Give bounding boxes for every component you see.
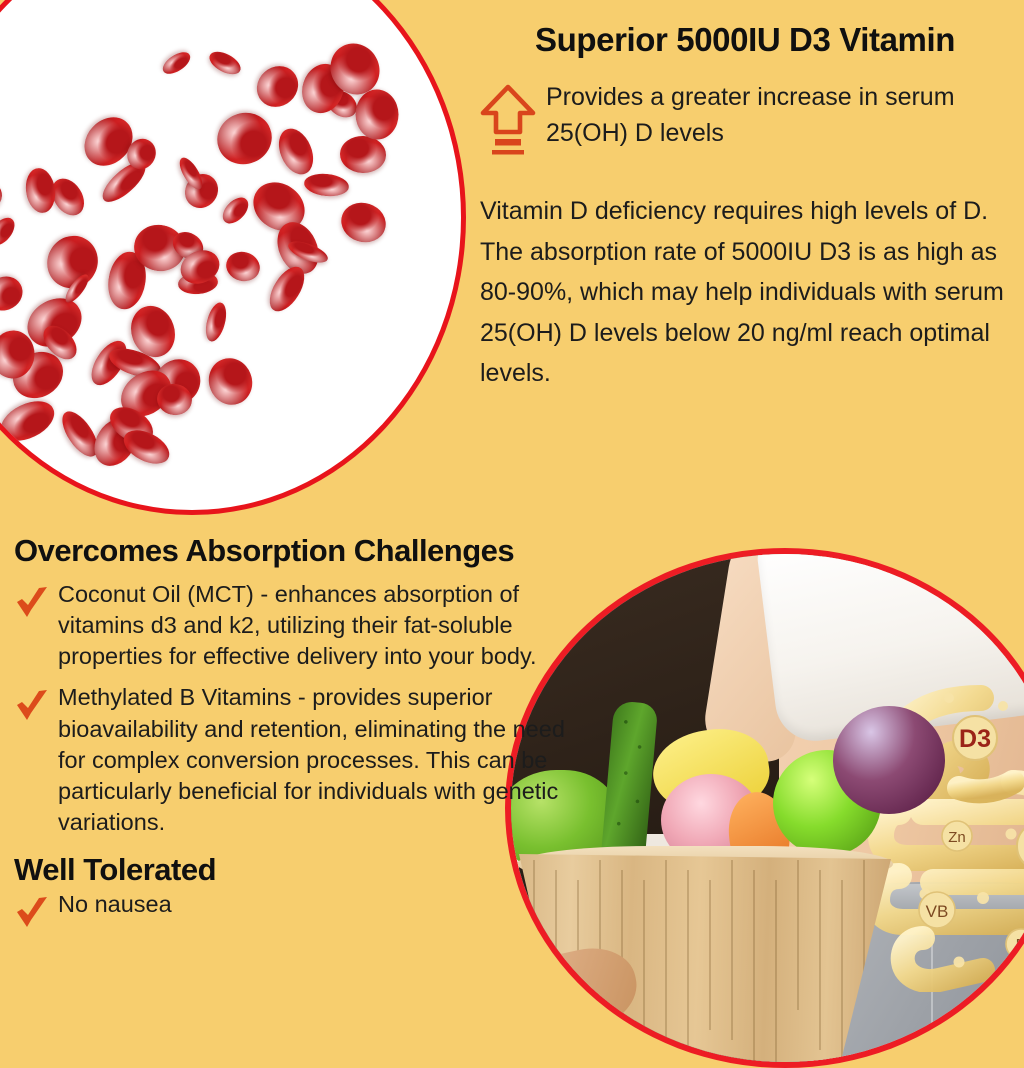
- list-item: Coconut Oil (MCT) - enhances absorption …: [14, 579, 574, 673]
- top-text-column: Superior 5000IU D3 Vitamin Provides a gr…: [480, 22, 1010, 394]
- wood-grain: [819, 870, 821, 1050]
- check-icon: [14, 682, 58, 729]
- page-title: Superior 5000IU D3 Vitamin: [480, 22, 1010, 58]
- feature-text: Provides a greater increase in serum 25(…: [546, 80, 1010, 151]
- wood-grain: [731, 860, 733, 1040]
- digestion-photo: D3 Zn K2 VB E: [505, 548, 1024, 1068]
- blood-cell: [336, 197, 391, 248]
- feature-row: Provides a greater increase in serum 25(…: [480, 80, 1010, 163]
- blood-cell: [202, 352, 258, 411]
- body-paragraph: Vitamin D deficiency requires high level…: [480, 191, 1010, 394]
- wood-grain: [797, 860, 799, 1010]
- list-item: Methylated B Vitamins - provides superio…: [14, 682, 574, 838]
- blood-cell: [339, 135, 387, 174]
- list-item-label: Methylated B Vitamins - provides superio…: [58, 682, 574, 838]
- blood-cell: [23, 166, 58, 215]
- blood-cell: [218, 193, 253, 228]
- blood-cell: [0, 177, 3, 212]
- wood-grain: [687, 870, 689, 1068]
- blood-cell: [210, 105, 280, 172]
- up-arrow-icon: [480, 80, 540, 163]
- tract-label-zn: Zn: [948, 829, 966, 846]
- blood-cells-image: [0, 0, 466, 515]
- purple-cabbage: [833, 706, 945, 814]
- blood-cell: [303, 172, 350, 199]
- wood-grain: [643, 880, 645, 1060]
- list-item: No nausea: [14, 889, 574, 936]
- blood-cell: [0, 393, 61, 449]
- list-item-label: Coconut Oil (MCT) - enhances absorption …: [58, 579, 574, 673]
- wood-grain: [775, 880, 777, 1068]
- wood-grain: [665, 860, 667, 1068]
- tract-label-e: E: [1016, 937, 1024, 954]
- blood-cell: [272, 123, 319, 179]
- check-icon: [14, 889, 58, 936]
- tract-label-d3: D3: [959, 725, 991, 753]
- photo-inner: D3 Zn K2 VB E: [511, 554, 1024, 1062]
- blood-cell: [248, 58, 306, 116]
- blood-cell: [206, 47, 244, 79]
- wood-grain: [841, 880, 843, 1068]
- blood-cell: [202, 300, 230, 343]
- wood-grain: [709, 880, 711, 1030]
- list-item-label: No nausea: [58, 889, 172, 920]
- blood-cell: [355, 89, 399, 140]
- benefits-section: Overcomes Absorption Challenges Coconut …: [14, 534, 574, 936]
- blood-cell: [0, 213, 19, 250]
- blood-cell: [0, 270, 29, 317]
- tract-label-vb: VB: [926, 902, 949, 921]
- wood-grain: [753, 870, 755, 1068]
- check-icon: [14, 579, 58, 626]
- blood-cell: [159, 48, 194, 78]
- benefits-heading: Overcomes Absorption Challenges: [14, 534, 574, 569]
- blood-cell: [223, 248, 264, 285]
- tolerated-heading: Well Tolerated: [14, 853, 574, 888]
